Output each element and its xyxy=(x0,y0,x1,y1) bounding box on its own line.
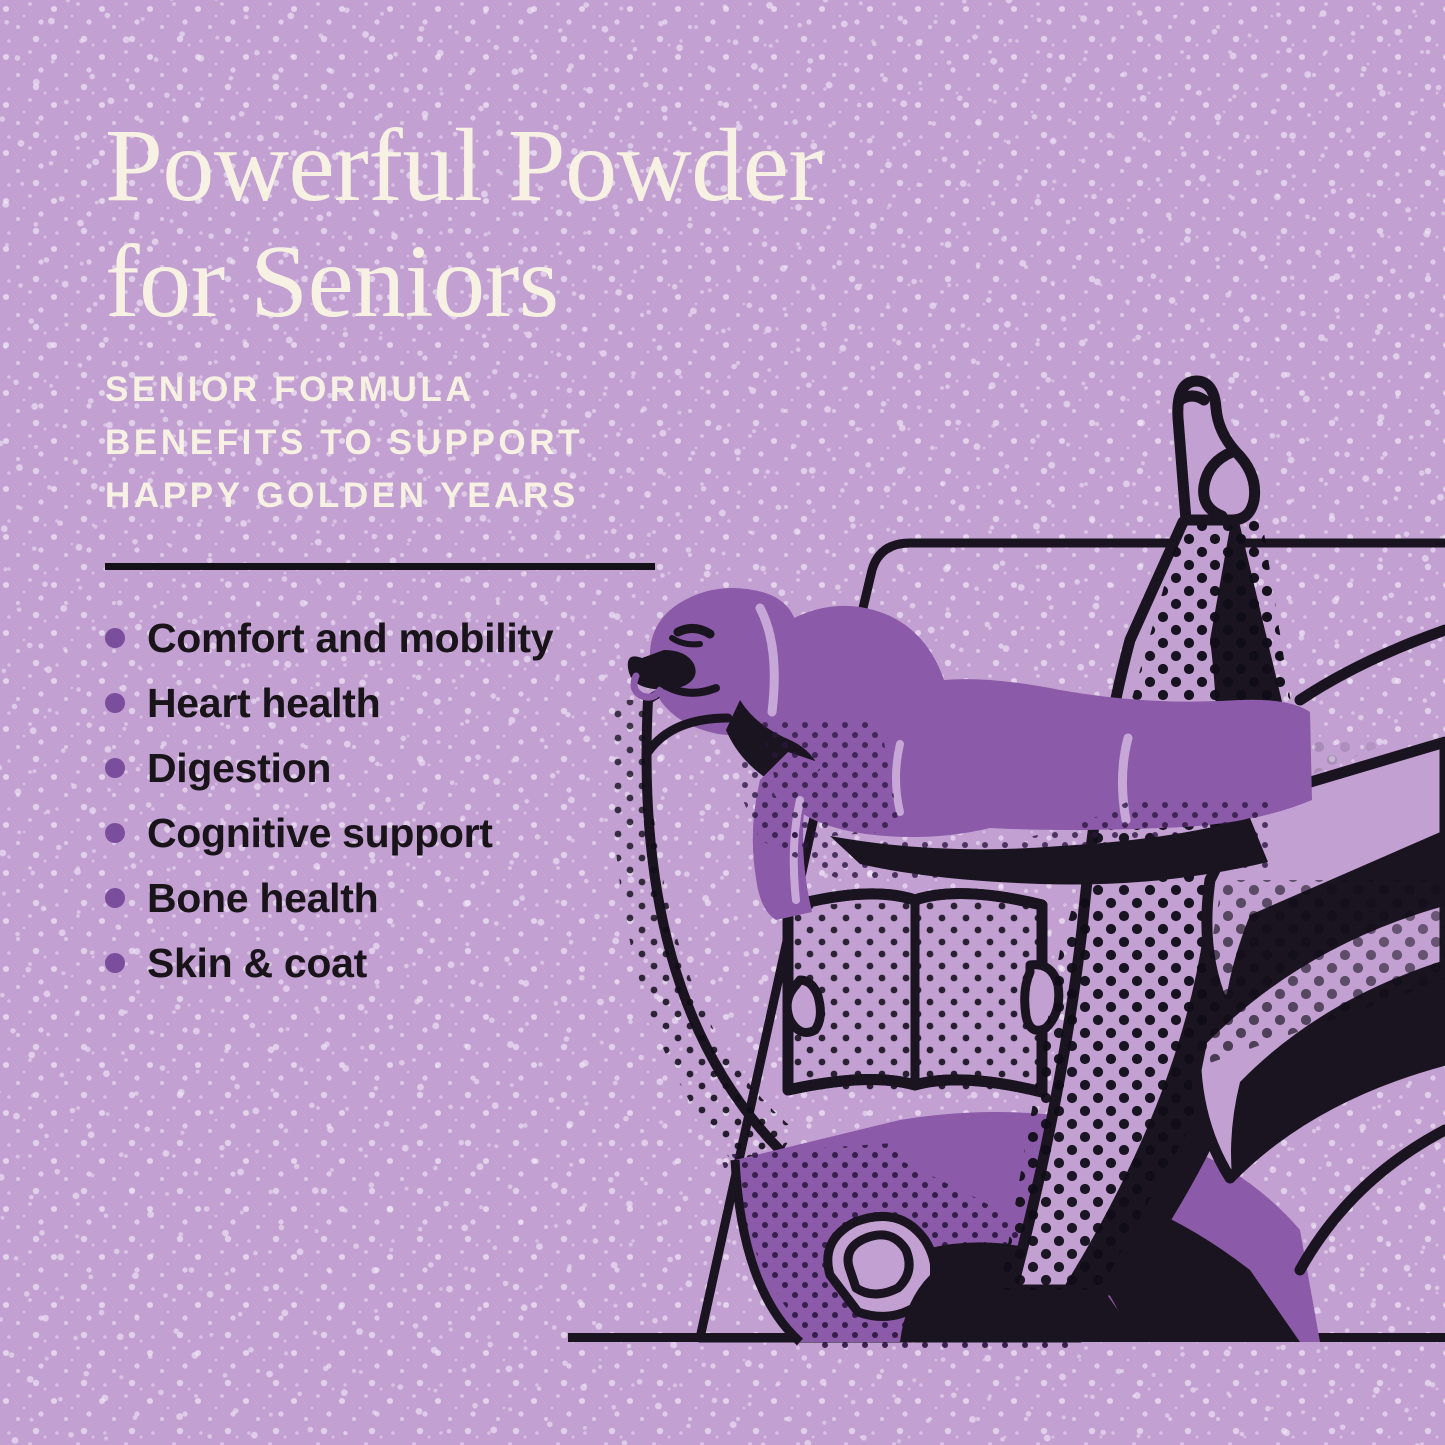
benefit-label: Bone health xyxy=(147,875,378,922)
benefit-label: Cognitive support xyxy=(147,810,493,857)
benefit-label: Skin & coat xyxy=(147,940,367,987)
page-title: Powerful Powder for Seniors xyxy=(105,108,1065,341)
divider-rule xyxy=(105,563,655,570)
bullet-icon xyxy=(105,953,125,973)
bare-foot xyxy=(1178,381,1255,520)
bullet-icon xyxy=(105,823,125,843)
bullet-icon xyxy=(105,758,125,778)
list-item: Bone health xyxy=(105,866,1065,931)
benefits-list: Comfort and mobility Heart health Digest… xyxy=(105,606,1065,996)
benefit-label: Heart health xyxy=(147,680,380,727)
list-item: Comfort and mobility xyxy=(105,606,1065,671)
list-item: Digestion xyxy=(105,736,1065,801)
text-column: Powerful Powder for Seniors SENIOR FORMU… xyxy=(105,108,1065,996)
bullet-icon xyxy=(105,693,125,713)
list-item: Heart health xyxy=(105,671,1065,736)
promo-graphic: Powerful Powder for Seniors SENIOR FORMU… xyxy=(0,0,1445,1445)
bullet-icon xyxy=(105,628,125,648)
list-item: Cognitive support xyxy=(105,801,1065,866)
benefit-label: Digestion xyxy=(147,745,331,792)
person-leg-calf xyxy=(1180,880,1445,1190)
benefit-label: Comfort and mobility xyxy=(147,615,553,662)
bullet-icon xyxy=(105,888,125,908)
list-item: Skin & coat xyxy=(105,931,1065,996)
subtitle: SENIOR FORMULA BENEFITS TO SUPPORT HAPPY… xyxy=(105,363,1065,523)
